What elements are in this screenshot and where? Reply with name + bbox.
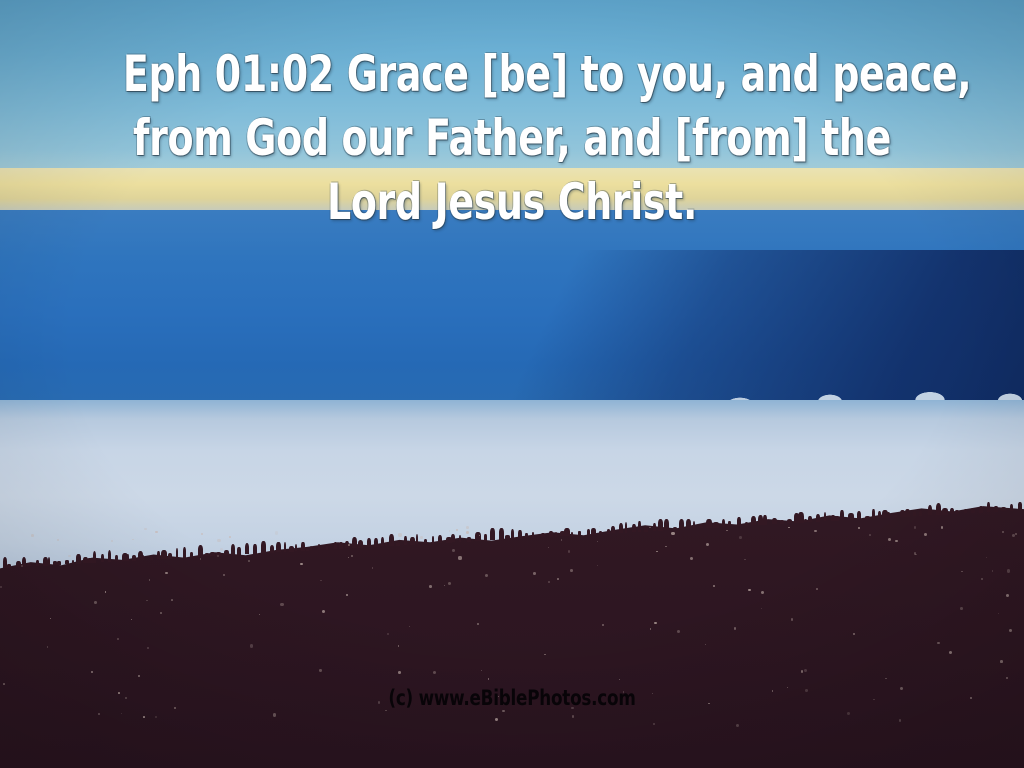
copyright-watermark: (c) www.eBiblePhotos.com bbox=[102, 686, 921, 710]
verse-line-3: Lord Jesus Christ. bbox=[123, 170, 901, 234]
verse-line-1: Eph 01:02 Grace [be] to you, and peace, bbox=[123, 42, 901, 106]
village-lights bbox=[0, 520, 1024, 750]
scripture-verse-text: Eph 01:02 Grace [be] to you, and peace, … bbox=[123, 42, 901, 234]
scripture-photo-image: Eph 01:02 Grace [be] to you, and peace, … bbox=[0, 0, 1024, 768]
verse-line-2: from God our Father, and [from] the bbox=[123, 106, 901, 170]
